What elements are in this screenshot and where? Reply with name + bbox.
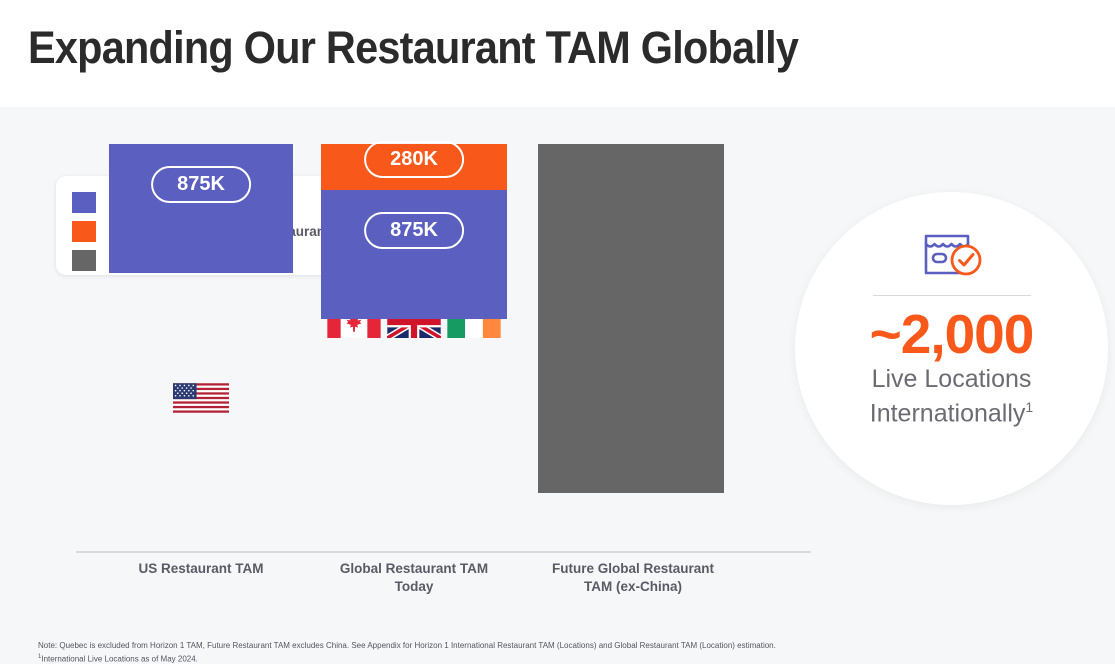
bar-chart: 875K 1.15M: [76, 140, 811, 552]
footnote-line-2-text: International Live Locations as of May 2…: [41, 654, 198, 663]
callout-divider: [873, 295, 1031, 296]
axis-label-line: US Restaurant TAM: [138, 561, 263, 576]
axis-label-line: Global Restaurant TAM: [340, 561, 488, 576]
bar-segment-us-restaurants[interactable]: 875K: [109, 144, 293, 273]
axis-label-us-restaurant-tam: US Restaurant TAM: [109, 560, 293, 578]
bar-value-badge: 875K: [151, 166, 251, 203]
footnote: Note: Quebec is excluded from Horizon 1 …: [38, 640, 776, 664]
bar-group-future-global-restaurant-tam: ~15M: [538, 144, 724, 552]
callout-caption: Live Locations Internationally1: [870, 365, 1033, 427]
callout-caption-superscript: 1: [1025, 399, 1033, 415]
flag-strip-us: [173, 381, 229, 415]
axis-label-line: Today: [395, 579, 434, 594]
axis-label-line: Future Global Restaurant: [552, 561, 714, 576]
slide-root: Expanding Our Restaurant TAM Globally US…: [0, 0, 1115, 664]
footnote-line-1: Note: Quebec is excluded from Horizon 1 …: [38, 640, 776, 652]
axis-label-future-global-restaurant-tam: Future Global Restaurant TAM (ex-China): [538, 560, 728, 596]
axis-label-global-restaurant-tam-today: Global Restaurant TAM Today: [321, 560, 507, 596]
storefront-verified-icon: [916, 226, 988, 278]
callout-value: ~2,000: [870, 305, 1034, 363]
footnote-line-2: 1International Live Locations as of May …: [38, 652, 776, 664]
bar-group-global-restaurant-tam-today: 1.15M: [321, 144, 507, 552]
bar-value-badge: 280K: [364, 141, 464, 178]
flag-us-icon: [173, 381, 229, 415]
axis-label-line: TAM (ex-China): [584, 579, 682, 594]
bar-value-badge: 875K: [364, 212, 464, 249]
chart-axis-line: [76, 551, 811, 553]
bar-group-us-restaurant-tam: 875K: [109, 144, 293, 552]
callout-caption-line1: Live Locations: [872, 365, 1032, 393]
live-locations-callout: ~2,000 Live Locations Internationally1: [795, 192, 1108, 505]
callout-caption-line2: Internationally: [870, 399, 1026, 427]
page-title: Expanding Our Restaurant TAM Globally: [28, 18, 798, 78]
bar-segment-us-restaurants[interactable]: 875K: [321, 190, 507, 319]
bar-segment-horizon-1-international-restaurants[interactable]: 280K: [321, 144, 507, 190]
bar-segment-future[interactable]: [538, 144, 724, 493]
